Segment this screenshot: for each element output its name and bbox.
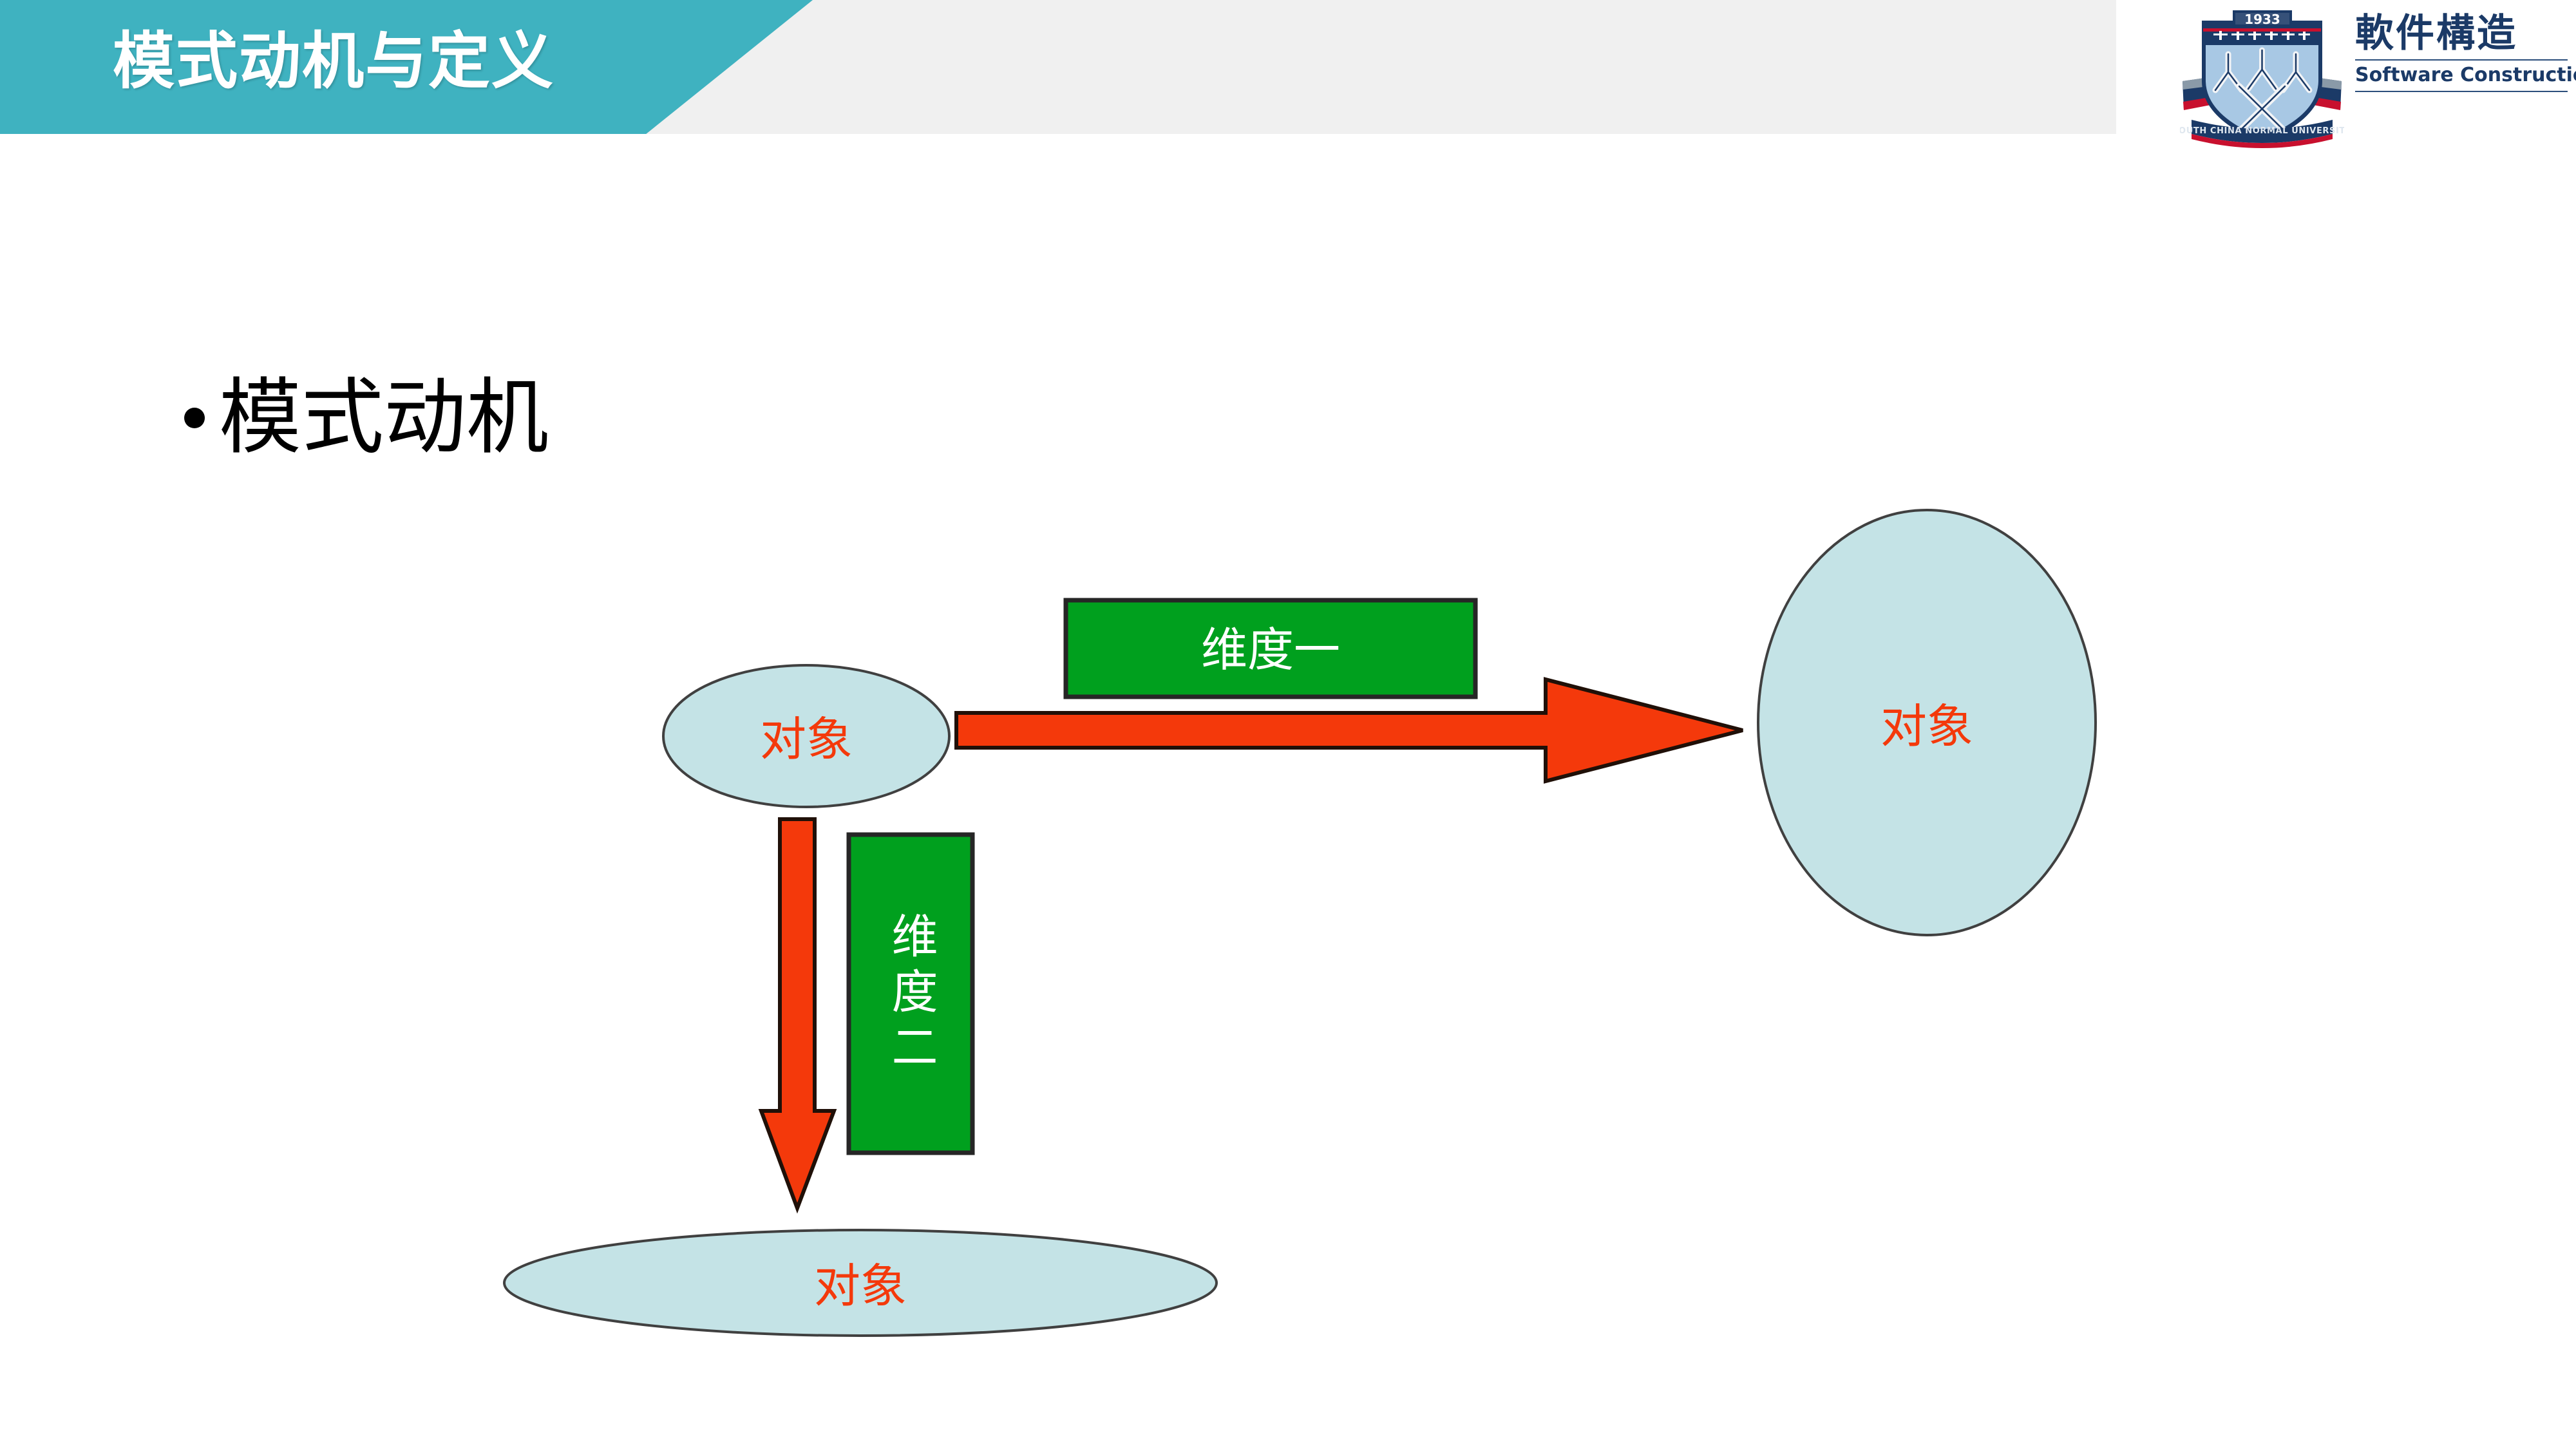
slide-canvas: 模式动机与定义 1933 xyxy=(0,0,2576,1449)
arrow-vertical-shape[interactable] xyxy=(761,819,834,1208)
motivation-diagram xyxy=(0,0,2576,1449)
label-box-dimension-one[interactable] xyxy=(1066,600,1475,697)
node-bottom-object-shape[interactable] xyxy=(504,1230,1217,1336)
node-source-object-shape[interactable] xyxy=(663,665,949,807)
node-right-object-shape[interactable] xyxy=(1758,510,2096,935)
label-box-dimension-two[interactable] xyxy=(849,835,972,1153)
